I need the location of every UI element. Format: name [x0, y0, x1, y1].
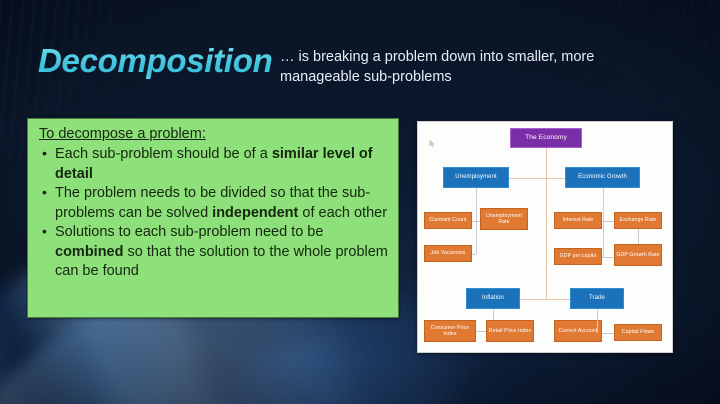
- diagram-connector: [520, 299, 570, 300]
- bullet-emphasis: combined: [55, 244, 123, 260]
- diagram-node-curr: Current Account: [554, 320, 602, 342]
- diagram-connector: [597, 309, 598, 333]
- diagram-node-root: The Economy: [510, 128, 582, 148]
- diagram-node-claim: Claimant Count: [424, 212, 472, 229]
- content-box-heading: To decompose a problem:: [39, 125, 390, 144]
- content-bullet-item: Solutions to each sub-problem need to be…: [36, 223, 390, 282]
- slide-subtitle: … is breaking a problem down into smalle…: [280, 47, 670, 87]
- mouse-pointer-icon: [429, 139, 436, 148]
- diagram-node-unemp: Unemployment: [443, 167, 509, 188]
- content-bullet-list: Each sub-problem should be of a similar …: [36, 145, 390, 282]
- diagram-node-urate: Unemployment Rate: [480, 208, 528, 230]
- diagram-connector: [509, 178, 565, 179]
- diagram-connector: [638, 229, 639, 244]
- bullet-text: Each sub-problem should be of a: [55, 146, 272, 162]
- diagram-connector: [602, 257, 614, 258]
- bullet-text: of each other: [298, 205, 387, 221]
- bullet-text: Solutions to each sub-problem need to be: [55, 224, 323, 240]
- diagram-node-gdpg: GDP Growth Rate: [614, 244, 662, 266]
- diagram-canvas: The EconomyUnemploymentEconomic GrowthIn…: [418, 122, 672, 352]
- diagram-node-exrate: Exchange Rate: [614, 212, 662, 229]
- diagram-connector: [472, 221, 480, 222]
- diagram-node-capf: Capital Flows: [614, 324, 662, 341]
- diagram-connector: [602, 333, 614, 334]
- diagram-connector: [472, 254, 476, 255]
- bullet-emphasis: independent: [212, 205, 298, 221]
- content-bullet-item: Each sub-problem should be of a similar …: [36, 145, 390, 184]
- diagram-connector: [476, 331, 486, 332]
- diagram-node-gdppc: GDP per capita: [554, 248, 602, 265]
- slide-title: Decomposition: [38, 42, 272, 80]
- presentation-slide: Decomposition … is breaking a problem do…: [0, 0, 720, 404]
- diagram-node-jobv: Job Vacancies: [424, 245, 472, 262]
- diagram-node-irate: Interest Rate: [554, 212, 602, 229]
- diagram-node-rpi: Retail Price Index: [486, 320, 534, 342]
- diagram-node-infl: Inflation: [466, 288, 520, 309]
- diagram-connector: [493, 309, 494, 320]
- content-bullet-item: The problem needs to be divided so that …: [36, 184, 390, 223]
- diagram-connector: [603, 188, 604, 257]
- diagram-connector: [546, 148, 547, 299]
- content-box: To decompose a problem: Each sub-problem…: [27, 118, 399, 318]
- diagram-connector: [602, 221, 614, 222]
- diagram-node-cpi: Consumer Price Index: [424, 320, 476, 342]
- diagram-node-trade: Trade: [570, 288, 624, 309]
- diagram-node-growth: Economic Growth: [565, 167, 640, 188]
- decomposition-diagram-panel: The EconomyUnemploymentEconomic GrowthIn…: [417, 121, 673, 353]
